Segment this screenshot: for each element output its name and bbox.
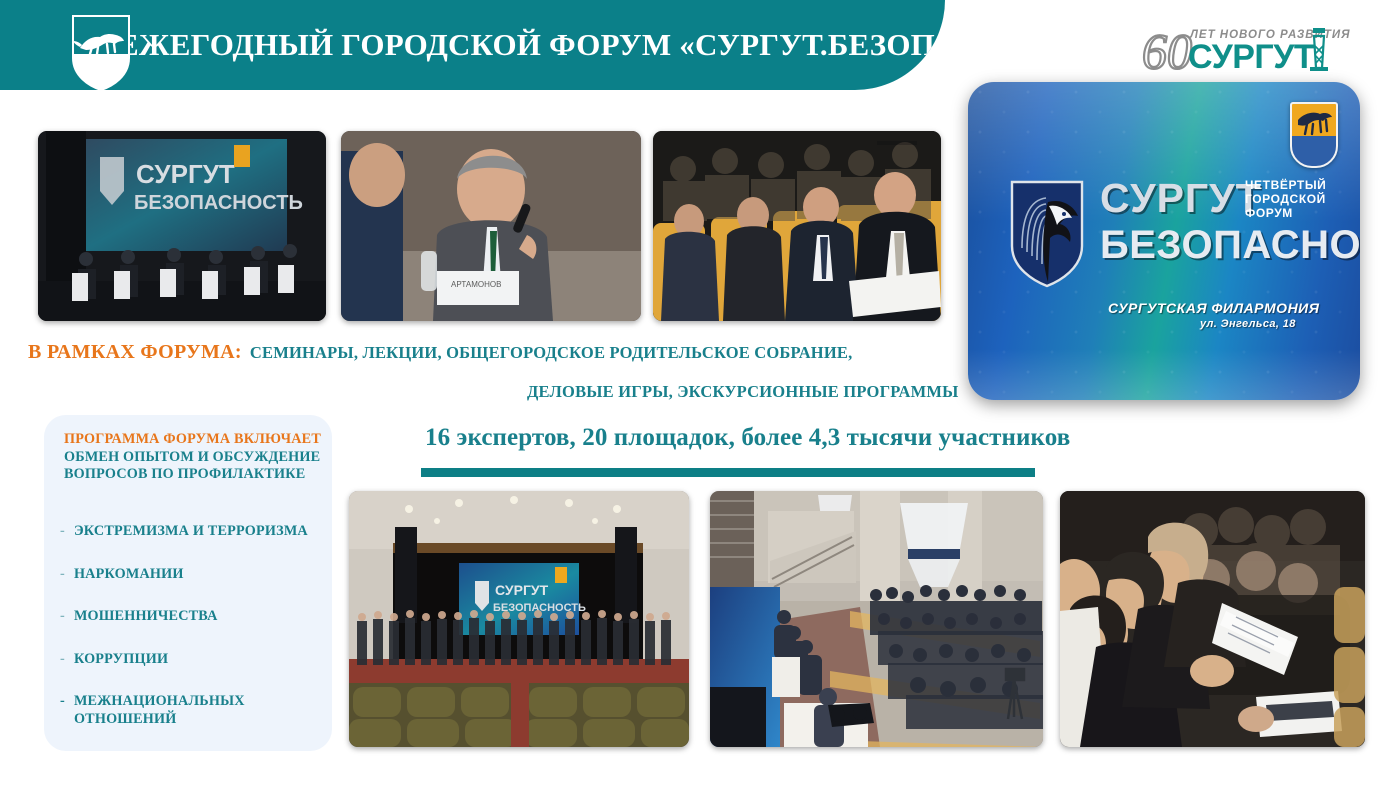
fingerprint-fox-shield-icon xyxy=(1008,178,1086,290)
page-title: ЕЖЕГОДНЫЙ ГОРОДСКОЙ ФОРУМ «СУРГУТ.БЕЗОПА… xyxy=(118,28,945,62)
svg-text:СУРГУТ: СУРГУТ xyxy=(136,159,235,189)
list-item: - КОРРУПЦИИ xyxy=(60,651,328,669)
list-item: - ЭКСТРЕМИЗМА И ТЕРРОРИЗМА xyxy=(60,523,328,541)
forum-poster: СУРГУТ БЕЗОПАСНОСТЬ ЧЕТВЁРТЫЙ ГОРОДСКОЙ … xyxy=(968,82,1360,400)
list-item-label: МОШЕННИЧЕСТВА xyxy=(74,608,218,626)
framework-line-1: В РАМКАХ ФОРУМА:СЕМИНАРЫ, ЛЕКЦИИ, ОБЩЕГО… xyxy=(28,341,852,364)
stats-underline-bar xyxy=(421,468,1035,477)
framework-items-line1: СЕМИНАРЫ, ЛЕКЦИИ, ОБЩЕГОРОДСКОЕ РОДИТЕЛЬ… xyxy=(250,343,853,362)
slide-canvas: ЕЖЕГОДНЫЙ ГОРОДСКОЙ ФОРУМ «СУРГУТ.БЕЗОПА… xyxy=(0,0,1400,788)
bullet-marker: - xyxy=(60,523,65,541)
photo-foyer-session xyxy=(710,491,1043,747)
anniversary-city: СУРГУТ xyxy=(1188,38,1315,76)
framework-items-line2: ДЕЛОВЫЕ ИГРЫ, ЭКСКУРСИОННЫЕ ПРОГРАММЫ xyxy=(527,382,959,402)
list-item: - МОШЕННИЧЕСТВА xyxy=(60,608,328,626)
program-card-heading: ПРОГРАММА ФОРУМА ВКЛЮЧАЕТ ОБМЕН ОПЫТОМ И… xyxy=(64,431,322,484)
poster-word-surgut: СУРГУТ xyxy=(1100,178,1262,218)
program-topic-list: - ЭКСТРЕМИЗМА И ТЕРРОРИЗМА - НАРКОМАНИИ … xyxy=(60,523,328,754)
bullet-marker: - xyxy=(60,693,65,728)
poster-bottom-sheen xyxy=(968,349,1360,400)
photo-readers xyxy=(1060,491,1365,747)
program-heading-teal: ОБМЕН ОПЫТОМ И ОБСУЖДЕНИЕ ВОПРОСОВ ПО ПР… xyxy=(64,449,320,483)
poster-subtitle: ЧЕТВЁРТЫЙ ГОРОДСКОЙ ФОРУМ xyxy=(1245,178,1335,220)
poster-word-security: БЕЗОПАСНОСТЬ xyxy=(1100,225,1360,265)
svg-text:АРТАМОНОВ: АРТАМОНОВ xyxy=(451,280,502,289)
bullet-marker: - xyxy=(60,566,65,584)
photo-group-auditorium: СУРГУТ БЕЗОПАСНОСТЬ xyxy=(349,491,689,747)
program-heading-orange: ПРОГРАММА ФОРУМА ВКЛЮЧАЕТ xyxy=(64,431,321,447)
list-item-label: МЕЖНАЦИОНАЛЬНЫХ ОТНОШЕНИЙ xyxy=(74,693,328,728)
bullet-marker: - xyxy=(60,608,65,626)
list-item-label: НАРКОМАНИИ xyxy=(74,566,184,584)
photo-panel-discussion: СУРГУТ БЕЗОПАСНОСТЬ xyxy=(38,131,326,321)
stats-headline: 16 экспертов, 20 площадок, более 4,3 тыс… xyxy=(425,424,1070,452)
anniversary-logo: 60 ЛЕТ НОВОГО РАЗВИТИЯ СУРГУТ xyxy=(1142,18,1352,78)
svg-text:БЕЗОПАСНОСТЬ: БЕЗОПАСНОСТЬ xyxy=(134,192,303,214)
poster-venue: СУРГУТСКАЯ ФИЛАРМОНИЯ xyxy=(1108,300,1319,316)
poster-address: ул. Энгельса, 18 xyxy=(1200,318,1296,330)
photo-audience-front-row xyxy=(653,131,941,321)
bullet-marker: - xyxy=(60,651,65,669)
program-card: ПРОГРАММА ФОРУМА ВКЛЮЧАЕТ ОБМЕН ОПЫТОМ И… xyxy=(44,415,332,751)
header-banner: ЕЖЕГОДНЫЙ ГОРОДСКОЙ ФОРУМ «СУРГУТ.БЕЗОПА… xyxy=(0,0,945,90)
list-item: - МЕЖНАЦИОНАЛЬНЫХ ОТНОШЕНИЙ xyxy=(60,693,328,728)
list-item-label: ЭКСТРЕМИЗМА И ТЕРРОРИЗМА xyxy=(74,523,308,541)
photo-speaker-microphone: АРТАМОНОВ xyxy=(341,131,641,321)
surgut-arms-orange-icon xyxy=(1290,102,1338,168)
anniversary-number: 60 xyxy=(1142,23,1192,78)
framework-label: В РАМКАХ ФОРУМА: xyxy=(28,341,242,363)
surgut-coat-of-arms-icon xyxy=(70,14,132,92)
svg-text:СУРГУТ: СУРГУТ xyxy=(495,582,549,598)
list-item-label: КОРРУПЦИИ xyxy=(74,651,168,669)
list-item: - НАРКОМАНИИ xyxy=(60,566,328,584)
